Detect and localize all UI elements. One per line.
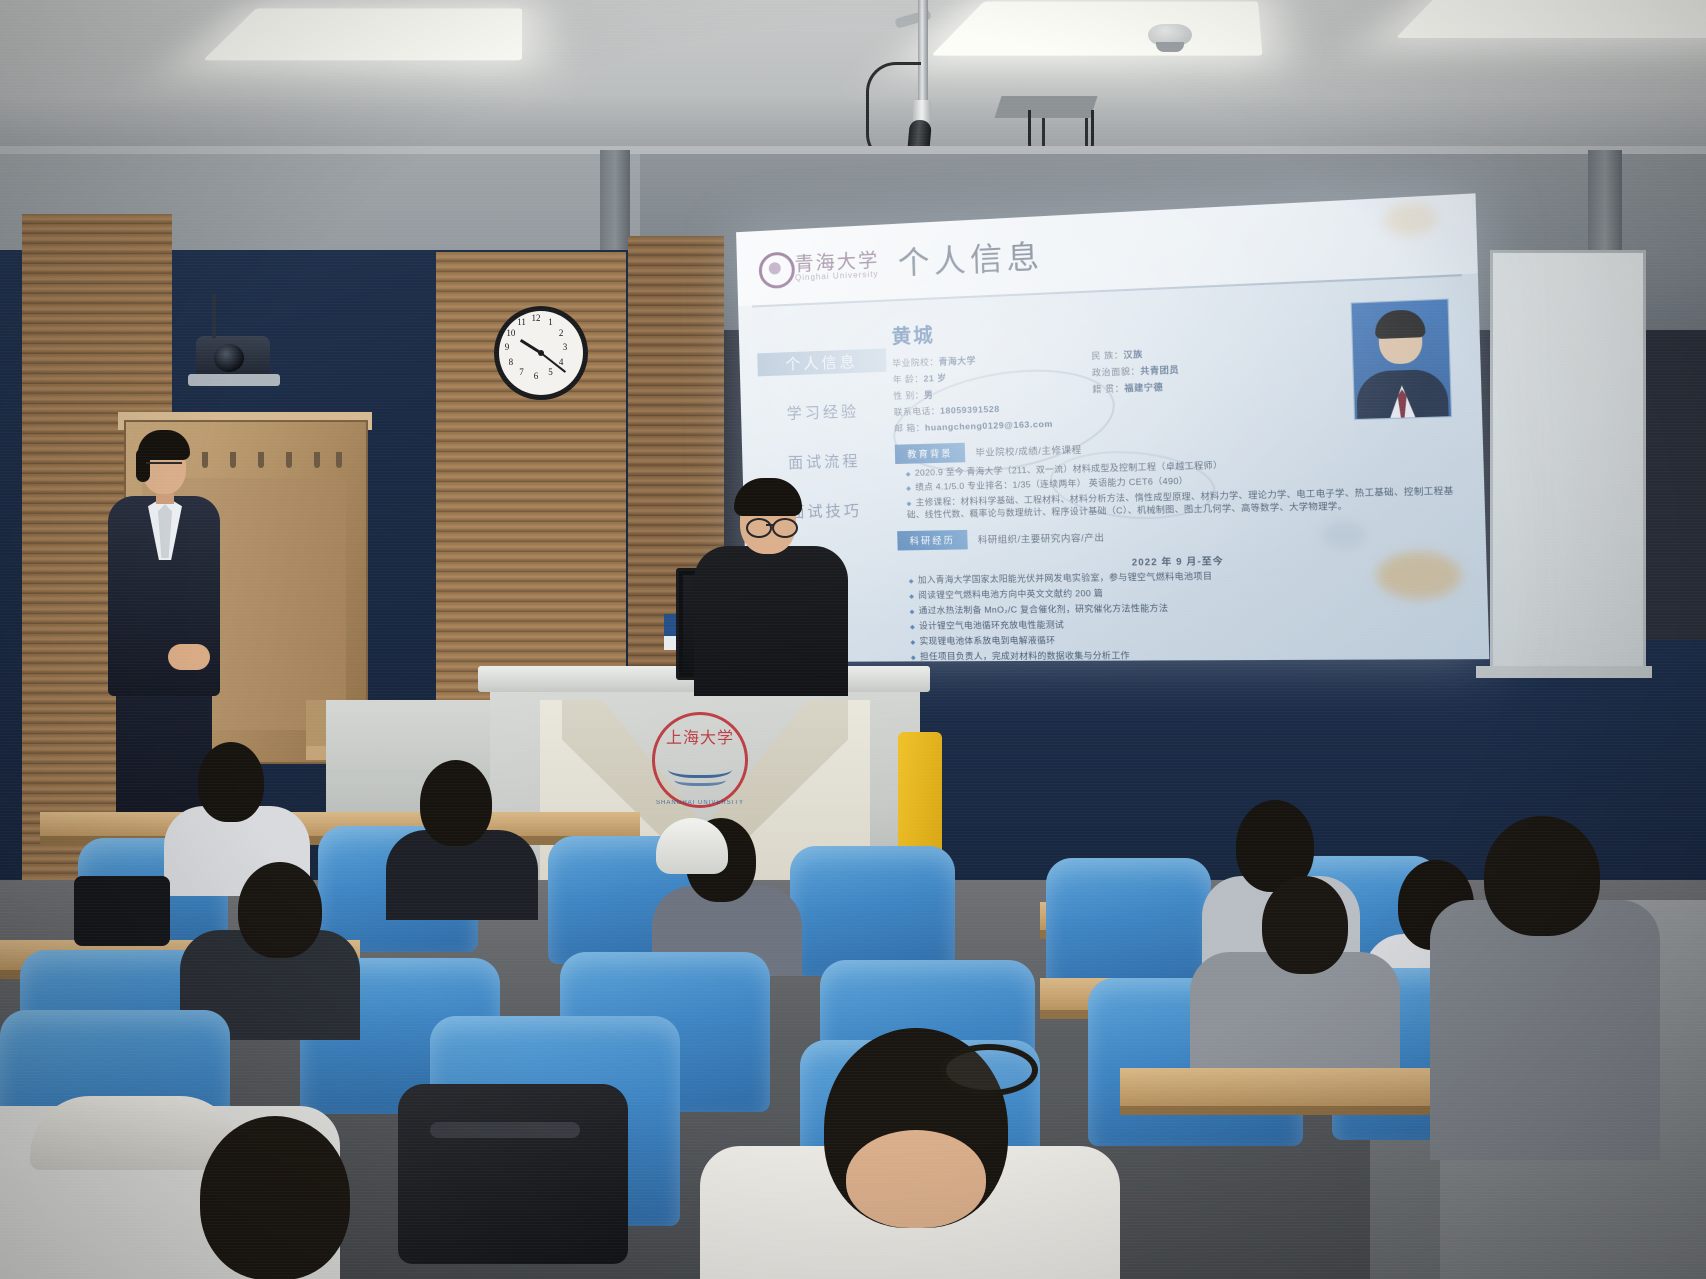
audience-glasses-icon (940, 1044, 1038, 1096)
clock-numeral: 7 (519, 367, 524, 377)
clock-numeral: 10 (506, 328, 515, 338)
camera-cable (212, 294, 216, 338)
clock-numeral: 1 (548, 317, 553, 327)
projection-screen: 青海大学 Qinghai University 个人信息 个人信息 学习经验 面… (736, 193, 1489, 662)
audience-head (1484, 816, 1600, 936)
emblem-text-cn: 上海大学 (652, 724, 748, 748)
backpack-strap (430, 1122, 580, 1138)
emblem-text-en: SHANGHAI UNIVERSITY (652, 800, 748, 806)
ptz-camera-icon (196, 336, 270, 376)
audience-head (1262, 876, 1348, 974)
clock-numerals: 121234567891011 (499, 311, 583, 395)
trash-bin (898, 732, 942, 856)
clock-numeral: 5 (548, 367, 553, 377)
clock-numeral: 3 (563, 342, 568, 352)
whiteboard-right (1490, 250, 1646, 676)
clock-numeral: 11 (517, 317, 526, 327)
smoke-detector-base (1156, 42, 1184, 52)
ceiling-light-panel (203, 8, 522, 60)
audience-torso (1430, 900, 1660, 1160)
lecture-hall-photo: 121234567891011 青海大学 Qinghai University (0, 0, 1706, 1279)
shanghai-university-emblem-icon: 上海大学 SHANGHAI UNIVERSITY (652, 712, 748, 808)
presenter-glasses-icon (146, 462, 182, 473)
audience-head (420, 760, 492, 846)
speaker-glasses-icon (772, 518, 798, 538)
camera-mount-bracket (188, 374, 280, 386)
ceiling-light-panel (1396, 0, 1706, 38)
whiteboard-tray (1476, 666, 1652, 678)
wall-clock: 121234567891011 (494, 306, 588, 400)
ceiling-light-panel (931, 1, 1262, 55)
clock-numeral: 6 (534, 371, 539, 381)
audience-head (238, 862, 322, 958)
clock-numeral: 2 (559, 328, 564, 338)
clock-numeral: 4 (559, 357, 564, 367)
speaker-torso (694, 546, 848, 696)
presenter-hands (168, 644, 210, 670)
bag (74, 876, 170, 946)
chair[interactable] (790, 846, 955, 976)
audience-head (200, 1116, 350, 1279)
audience-face (846, 1130, 986, 1228)
audience-head (198, 742, 264, 822)
speaker-glasses-icon (746, 518, 772, 538)
clock-numeral: 8 (509, 357, 514, 367)
chair[interactable] (1046, 858, 1211, 990)
backpack (398, 1084, 628, 1264)
speaker-glasses-bridge (766, 524, 774, 526)
wall-ceiling-trim (0, 146, 1706, 154)
clock-numeral: 12 (532, 313, 541, 323)
clock-numeral: 9 (505, 342, 510, 352)
